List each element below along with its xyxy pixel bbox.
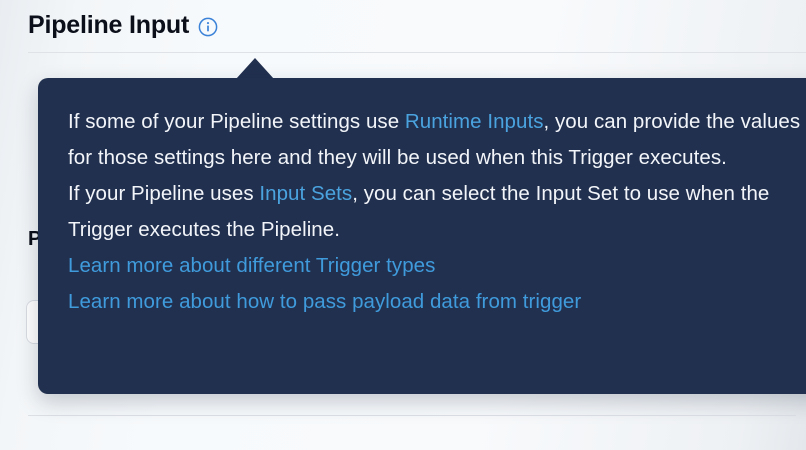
page-title: Pipeline Input (28, 9, 218, 41)
tooltip-paragraph-2: If your Pipeline uses Input Sets, you ca… (68, 176, 806, 248)
tooltip-arrow (236, 58, 274, 79)
tooltip-paragraph-1-part1: If some of your Pipeline settings use (68, 110, 405, 133)
runtime-inputs-link[interactable]: Runtime Inputs (405, 110, 544, 133)
page-title-text: Pipeline Input (28, 9, 189, 41)
app-screen: Pipeline Input P If some of your Pipelin… (0, 0, 806, 450)
footer-divider (28, 415, 796, 416)
header-divider (28, 52, 806, 53)
tooltip-paragraph-1: If some of your Pipeline settings use Ru… (68, 104, 806, 176)
learn-more-payload-data-link[interactable]: Learn more about how to pass payload dat… (68, 284, 806, 320)
pipeline-input-tooltip: If some of your Pipeline settings use Ru… (38, 78, 806, 394)
tooltip-paragraph-2-part1: If your Pipeline uses (68, 182, 259, 205)
learn-more-trigger-types-link[interactable]: Learn more about different Trigger types (68, 248, 806, 284)
info-circle-icon[interactable] (198, 14, 218, 37)
input-sets-link[interactable]: Input Sets (259, 182, 352, 205)
